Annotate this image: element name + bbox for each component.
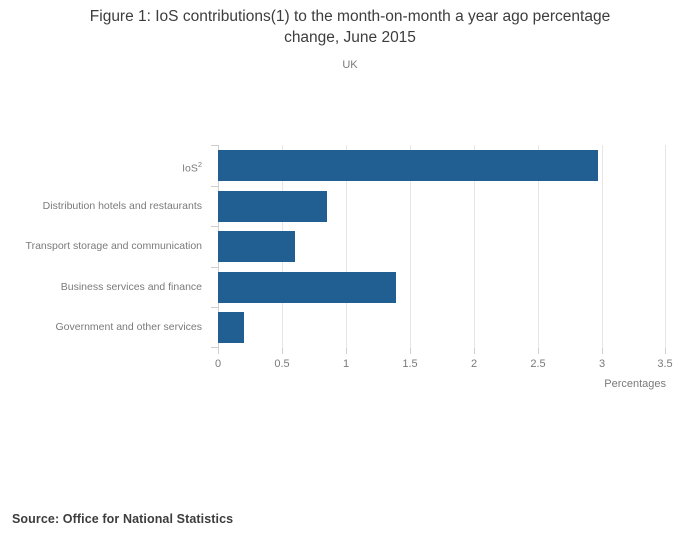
chart-subtitle: UK (0, 59, 700, 71)
y-axis-label-ios: IoS2 (182, 159, 202, 175)
x-tick-label-3: 3 (599, 358, 605, 370)
x-tick-3.5 (665, 348, 666, 354)
category-tick-1 (211, 186, 218, 187)
category-tick-0 (211, 145, 218, 146)
x-tick-label-2.5: 2.5 (530, 358, 545, 370)
x-tick-label-0.5: 0.5 (274, 358, 289, 370)
x-tick-0.5 (282, 348, 283, 354)
category-tick-4 (211, 307, 218, 308)
x-tick-label-0: 0 (215, 358, 221, 370)
category-tick-3 (211, 267, 218, 268)
category-tick-2 (211, 226, 218, 227)
y-axis-label-government: Government and other services (56, 321, 203, 333)
y-axis-label-distribution: Distribution hotels and restaurants (43, 200, 202, 212)
category-tick-5 (211, 347, 218, 348)
bar-business[interactable] (218, 272, 396, 303)
bar-distribution[interactable] (218, 191, 327, 222)
x-tick-label-1.5: 1.5 (402, 358, 417, 370)
x-tick-3 (602, 348, 603, 354)
bar-row (218, 145, 666, 186)
x-tick-label-1: 1 (343, 358, 349, 370)
bar-row (218, 226, 666, 267)
bar-row (218, 267, 666, 308)
bar-row (218, 307, 666, 348)
plot-area (218, 145, 666, 348)
y-axis-label-ios-text: IoS (182, 163, 198, 175)
x-tick-label-3.5: 3.5 (657, 358, 672, 370)
source-note: Source: Office for National Statistics (12, 512, 233, 526)
chart-header: Figure 1: IoS contributions(1) to the mo… (0, 6, 700, 71)
x-tick-1 (346, 348, 347, 354)
chart-title: Figure 1: IoS contributions(1) to the mo… (0, 6, 700, 48)
y-axis-label-transport: Transport storage and communication (26, 240, 202, 252)
x-axis-title: Percentages (0, 378, 666, 390)
x-tick-label-2: 2 (471, 358, 477, 370)
x-tick-2.5 (538, 348, 539, 354)
y-axis-label-ios-superscript: 2 (198, 160, 202, 169)
x-tick-1.5 (410, 348, 411, 354)
bar-transport[interactable] (218, 231, 295, 262)
x-tick-2 (474, 348, 475, 354)
bar-row (218, 186, 666, 227)
bar-ios[interactable] (218, 150, 598, 181)
y-axis-labels: IoS2 Distribution hotels and restaurants… (0, 145, 210, 348)
bar-government[interactable] (218, 312, 244, 343)
y-axis-label-business: Business services and finance (61, 281, 202, 293)
x-tick-0 (218, 348, 219, 354)
